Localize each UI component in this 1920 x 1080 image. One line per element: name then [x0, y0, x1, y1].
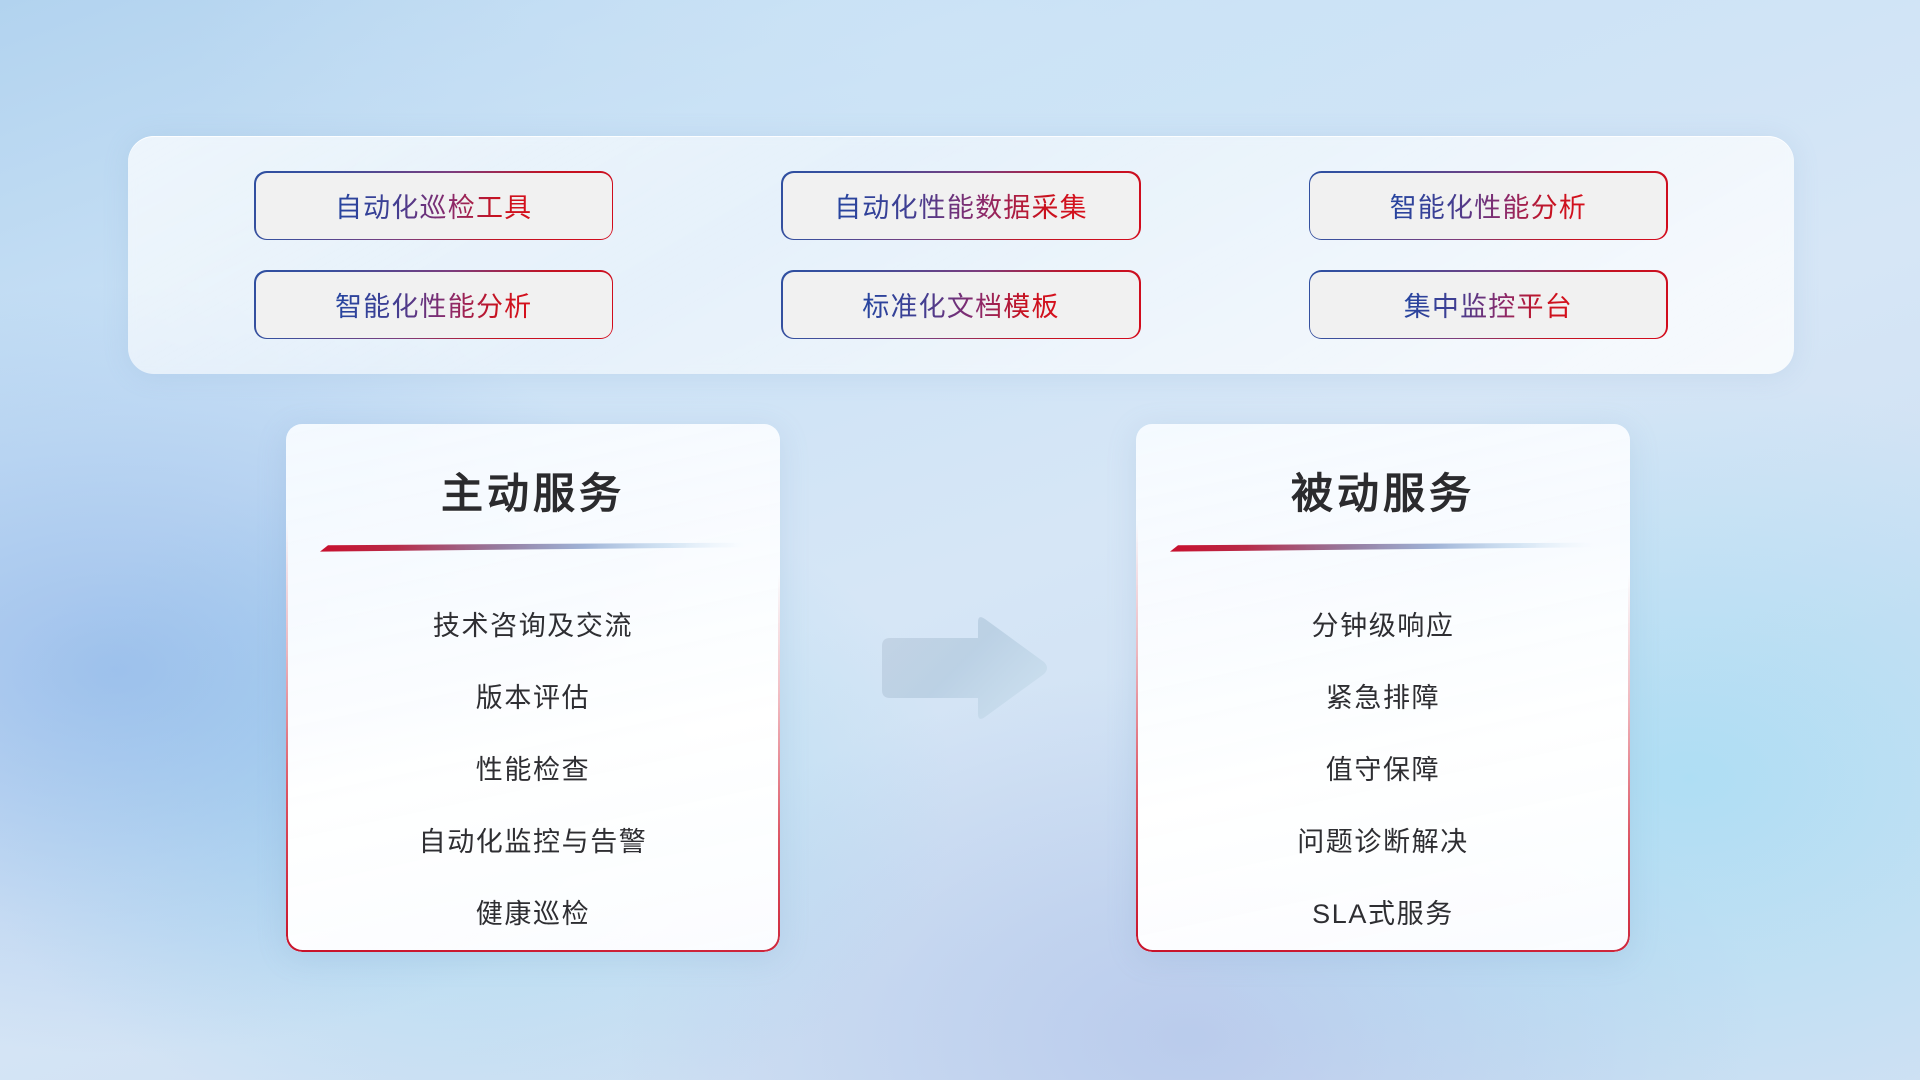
list-item: 问题诊断解决	[1297, 806, 1469, 878]
title-divider-icon	[1170, 542, 1596, 552]
proactive-service-list: 技术咨询及交流 版本评估 性能检查 自动化监控与告警 健康巡检	[286, 590, 780, 950]
capability-tag-label: 自动化巡检工具	[335, 186, 532, 225]
card-title: 主动服务	[286, 460, 780, 521]
capability-tag-label: 集中监控平台	[1404, 285, 1573, 324]
capability-tags-panel: 自动化巡检工具 自动化性能数据采集 智能化性能分析 智能化性能分析 标准化文档模…	[128, 136, 1794, 374]
capability-tag[interactable]: 自动化性能数据采集	[783, 173, 1139, 239]
reactive-service-list: 分钟级响应 紧急排障 值守保障 问题诊断解决 SLA式服务	[1136, 590, 1630, 950]
list-item: 技术咨询及交流	[433, 590, 633, 662]
card-title: 被动服务	[1136, 460, 1630, 521]
list-item: SLA式服务	[1312, 878, 1454, 950]
arrow-right-icon	[874, 612, 1050, 724]
list-item: 自动化监控与告警	[419, 806, 648, 878]
title-divider-icon	[320, 542, 746, 552]
capability-tag-label: 自动化性能数据采集	[834, 186, 1088, 225]
capability-tag[interactable]: 自动化巡检工具	[256, 173, 612, 239]
capability-tag[interactable]: 智能化性能分析	[256, 272, 612, 338]
list-item: 紧急排障	[1326, 662, 1440, 734]
capability-tag-label: 智能化性能分析	[335, 285, 532, 324]
list-item: 性能检查	[476, 734, 590, 806]
proactive-service-card[interactable]: 主动服务 技术咨询及交流 版本评估 性能检查 自动化监控与告警 健康巡检	[286, 424, 780, 952]
list-item: 健康巡检	[476, 878, 590, 950]
capability-tag[interactable]: 集中监控平台	[1310, 272, 1666, 338]
capability-tag-grid: 自动化巡检工具 自动化性能数据采集 智能化性能分析 智能化性能分析 标准化文档模…	[128, 136, 1794, 374]
capability-tag-label: 标准化文档模板	[862, 285, 1059, 324]
list-item: 版本评估	[476, 662, 590, 734]
reactive-service-card[interactable]: 被动服务 分钟级响应 紧急排障 值守保障 问题诊断解决 SLA式服务	[1136, 424, 1630, 952]
capability-tag[interactable]: 智能化性能分析	[1310, 173, 1666, 239]
capability-tag[interactable]: 标准化文档模板	[783, 272, 1139, 338]
capability-tag-label: 智能化性能分析	[1390, 186, 1587, 225]
list-item: 值守保障	[1326, 734, 1440, 806]
list-item: 分钟级响应	[1312, 590, 1455, 662]
